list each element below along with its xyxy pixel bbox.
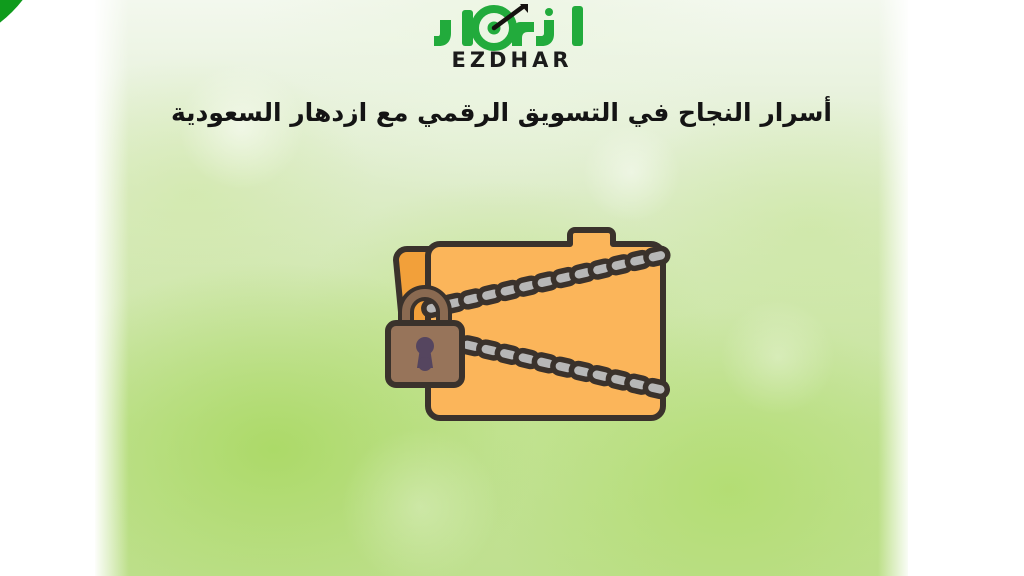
- ezdhar-target-arrow-logo: [432, 4, 592, 52]
- locked-folder-illustration: [382, 222, 682, 438]
- panel-right-feather: [878, 0, 908, 576]
- banner-canvas: EZDHAR أسرار النجاح في التسويق الرقمي مع…: [0, 0, 1024, 576]
- brand-logo[interactable]: EZDHAR: [0, 4, 1024, 71]
- brand-wordmark: EZDHAR: [0, 50, 1024, 71]
- panel-left-feather: [95, 0, 129, 576]
- page-title: أسرار النجاح في التسويق الرقمي مع ازدهار…: [95, 96, 908, 130]
- concentric-rings-bottom-right: [894, 444, 1024, 576]
